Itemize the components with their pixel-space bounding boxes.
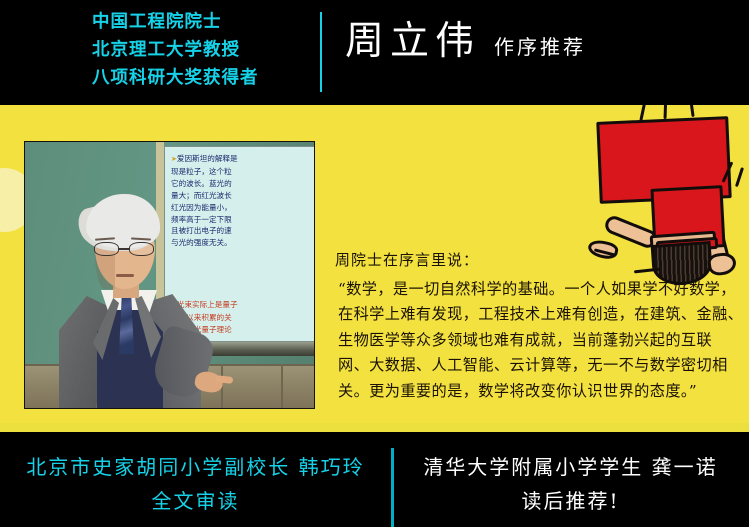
lecturer-figure xyxy=(61,194,201,409)
cartoon-head xyxy=(651,241,714,287)
quote-line-4: 网、大数据、人工智能、云计算等，无一不与数学密切相 xyxy=(338,353,738,378)
quote-line-5: 关。更为重要的是，数学将改变你认识世界的态度。” xyxy=(338,379,738,404)
quote-line-2: 在科学上难有发现，工程技术上难有创造，在建筑、金融、 xyxy=(338,302,738,327)
poster-root: 中国工程院院士 北京理工大学教授 八项科研大奖获得者 周立伟 作序推荐 ➤爱因斯… xyxy=(0,0,749,527)
header-vertical-divider xyxy=(320,12,322,92)
wall-divider-3 xyxy=(281,364,283,409)
footer-left-line-2: 全文审读 xyxy=(0,484,391,518)
page-title: 周立伟 xyxy=(345,22,480,61)
motion-line-3 xyxy=(688,105,694,117)
handstand-boy-cartoon xyxy=(590,105,749,291)
screen-line-3: 它的波长。蓝光的 xyxy=(171,178,315,190)
intro-line: 周院士在序言里说： xyxy=(335,249,479,270)
motion-line-2 xyxy=(664,105,667,119)
cartoon-hair xyxy=(654,244,710,284)
footer-right-line-1: 清华大学附属小学学生 龚一诺 xyxy=(392,450,749,484)
footer-left-block: 北京市史家胡同小学副校长 韩巧玲 全文审读 xyxy=(0,450,391,518)
footer-right-block: 清华大学附属小学学生 龚一诺 读后推荐! xyxy=(392,450,749,518)
quote-line-3: 生物医学等众多领域也难有成就，当前蓬勃兴起的互联 xyxy=(338,328,738,353)
motion-line-5 xyxy=(735,167,744,187)
quote-block: “数学，是一切自然科学的基础。一个人如果学不好数学， 在科学上难有发现，工程技术… xyxy=(338,277,738,404)
content-panel: ➤爱因斯坦的解释是 现是粒子，这个粒 它的波长。蓝光的 量大；而红光波长 红光因… xyxy=(0,105,749,432)
panel-bottom-sheen xyxy=(0,423,749,432)
motion-line-1 xyxy=(639,105,647,121)
title-block: 周立伟 作序推荐 xyxy=(345,22,586,61)
credentials-block: 中国工程院院士 北京理工大学教授 八项科研大奖获得者 xyxy=(92,8,314,92)
lens-right xyxy=(129,242,154,256)
lens-left xyxy=(94,242,119,256)
credential-line-3: 八项科研大奖获得者 xyxy=(92,64,314,92)
lecture-photo: ➤爱因斯坦的解释是 现是粒子，这个粒 它的波长。蓝光的 量大；而红光波长 红光因… xyxy=(24,141,315,409)
glasses-icon xyxy=(93,242,157,256)
title-subtitle: 作序推荐 xyxy=(494,37,586,57)
glasses-bridge xyxy=(119,248,130,250)
mouth xyxy=(116,274,134,277)
footer-bar: 北京市史家胡同小学副校长 韩巧玲 全文审读 清华大学附属小学学生 龚一诺 读后推… xyxy=(0,432,749,527)
credential-line-1: 中国工程院院士 xyxy=(92,8,314,36)
cartoon-hand-right xyxy=(707,251,738,277)
credential-line-2: 北京理工大学教授 xyxy=(92,36,314,64)
footer-left-line-1: 北京市史家胡同小学副校长 韩巧玲 xyxy=(0,450,391,484)
screen-line-1: 爱因斯坦的解释是 xyxy=(177,154,238,163)
footer-right-line-2: 读后推荐! xyxy=(392,484,749,518)
screen-line-2: 现是粒子，这个粒 xyxy=(171,166,315,178)
header-bar: 中国工程院院士 北京理工大学教授 八项科研大奖获得者 周立伟 作序推荐 xyxy=(0,0,749,105)
